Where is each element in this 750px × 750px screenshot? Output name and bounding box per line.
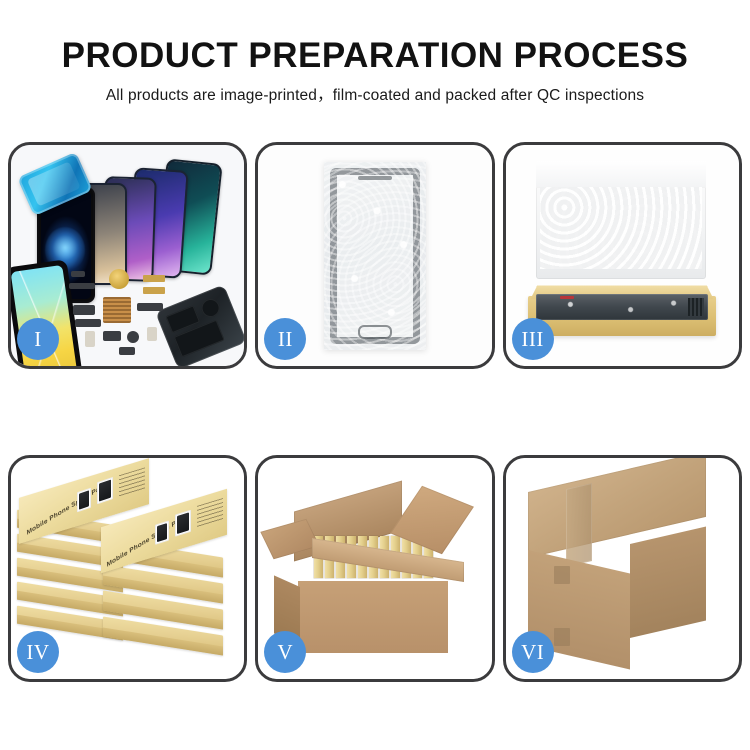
process-steps-grid: I II xyxy=(8,142,742,682)
step-panel-2[interactable]: II xyxy=(255,142,494,369)
step-panel-5[interactable]: V xyxy=(255,455,494,682)
packing-tape-icon xyxy=(566,483,592,567)
sealed-carton-side-face xyxy=(630,526,706,638)
carton-front-face xyxy=(298,581,448,653)
step-badge-1: I xyxy=(17,318,59,360)
step-panel-3[interactable]: III xyxy=(503,142,742,369)
step-panel-1[interactable]: I xyxy=(8,142,247,369)
product-preparation-infographic: PRODUCT PREPARATION PROCESS All products… xyxy=(0,0,750,750)
page-subtitle: All products are image-printed，film-coat… xyxy=(0,76,750,106)
step-badge-4: IV xyxy=(17,631,59,673)
film-wrapped-screen-icon xyxy=(324,162,426,350)
carton-tab-top xyxy=(554,566,570,584)
box-screen-thumb xyxy=(175,510,191,537)
step-badge-6: VI xyxy=(512,631,554,673)
wrapped-screen-in-box-icon xyxy=(536,294,708,320)
box-screen-thumb xyxy=(155,520,169,544)
box-screen-thumb xyxy=(77,488,91,513)
box-spec-lines xyxy=(119,467,145,497)
page-title: PRODUCT PREPARATION PROCESS xyxy=(0,0,750,76)
step-panel-6[interactable]: VI xyxy=(503,455,742,682)
foam-sheet-icon xyxy=(540,187,702,269)
spare-parts-cluster xyxy=(69,269,199,366)
box-screen-thumb xyxy=(97,477,113,504)
carton-tab-bottom xyxy=(554,628,570,646)
step-badge-3: III xyxy=(512,318,554,360)
header: PRODUCT PREPARATION PROCESS All products… xyxy=(0,0,750,106)
box-spec-lines xyxy=(197,498,223,528)
step-panel-4[interactable]: Mobile Phone Spare Parts Mobile Phone Sp… xyxy=(8,455,247,682)
